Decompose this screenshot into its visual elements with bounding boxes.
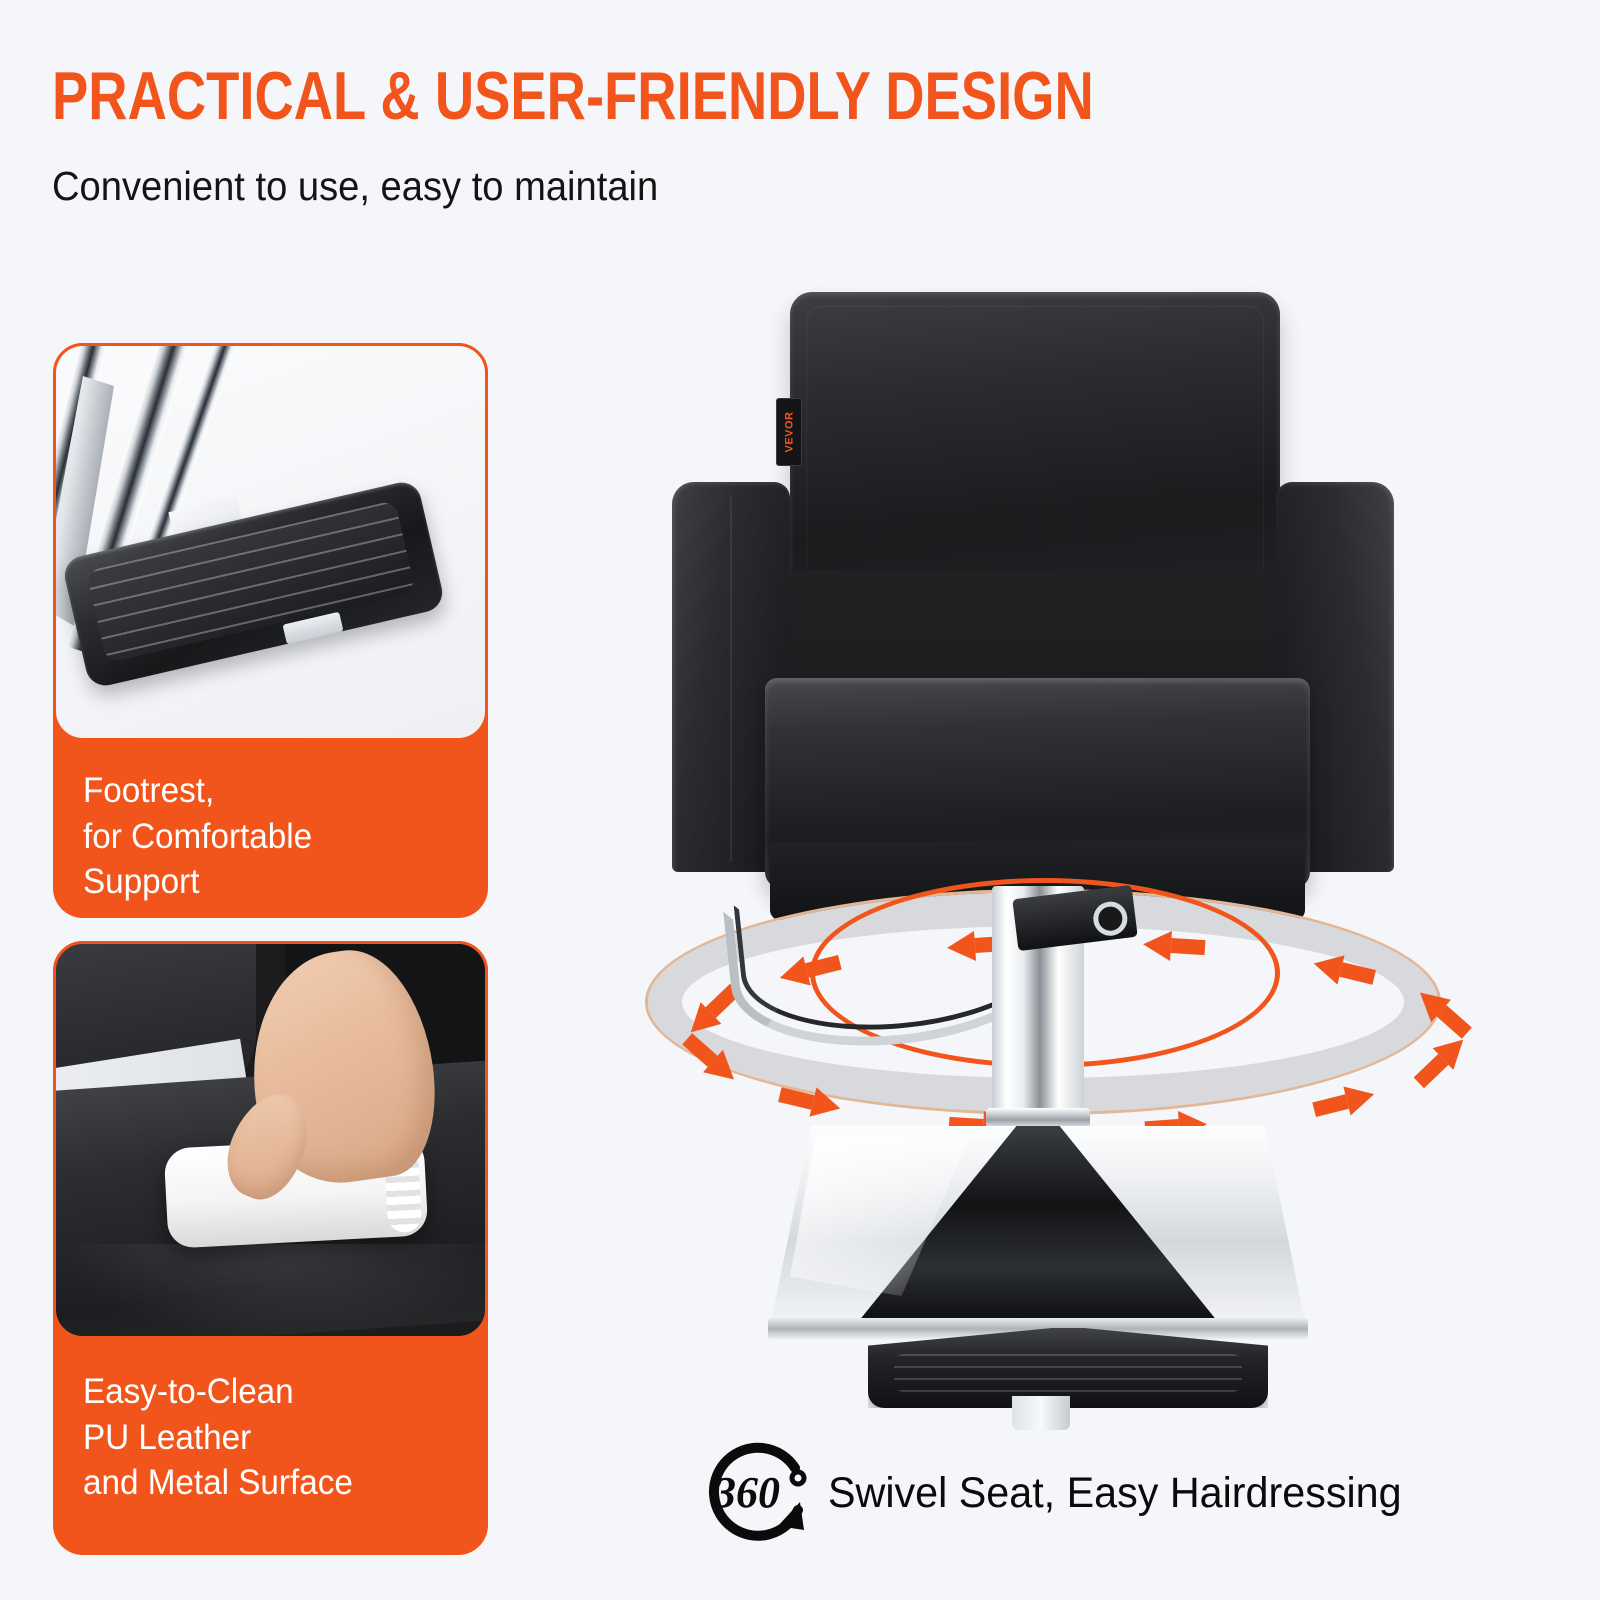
page-title: PRACTICAL & USER-FRIENDLY DESIGN: [52, 62, 1252, 130]
seat-sheen: [56, 1244, 488, 1339]
swivel-badge: 360 Swivel Seat, Easy Hairdressing: [700, 1432, 1425, 1554]
easy-clean-photo: [53, 941, 488, 1339]
footrest-photo: [53, 343, 488, 741]
footrest-caption: Footrest, for Comfortable Support: [83, 768, 449, 905]
rotate-360-arrow-icon: 360: [700, 1432, 822, 1554]
header: PRACTICAL & USER-FRIENDLY DESIGN Conveni…: [52, 62, 1552, 209]
feature-card-easy-clean: Easy-to-Clean PU Leather and Metal Surfa…: [53, 941, 488, 1339]
vevor-brand-tag: VEVOR: [776, 398, 802, 466]
column-collar: [986, 1108, 1090, 1128]
product-image-salon-chair: VEVOR: [620, 270, 1500, 1430]
vevor-brand-label: VEVOR: [783, 411, 795, 452]
easy-clean-caption: Easy-to-Clean PU Leather and Metal Surfa…: [83, 1369, 449, 1506]
feature-card-footrest: Footrest, for Comfortable Support: [53, 343, 488, 741]
page-subtitle: Convenient to use, easy to maintain: [52, 164, 1447, 209]
pedal-stem: [1012, 1396, 1070, 1430]
swivel-badge-label: Swivel Seat, Easy Hairdressing: [828, 1469, 1402, 1518]
svg-text:360: 360: [713, 1468, 780, 1517]
